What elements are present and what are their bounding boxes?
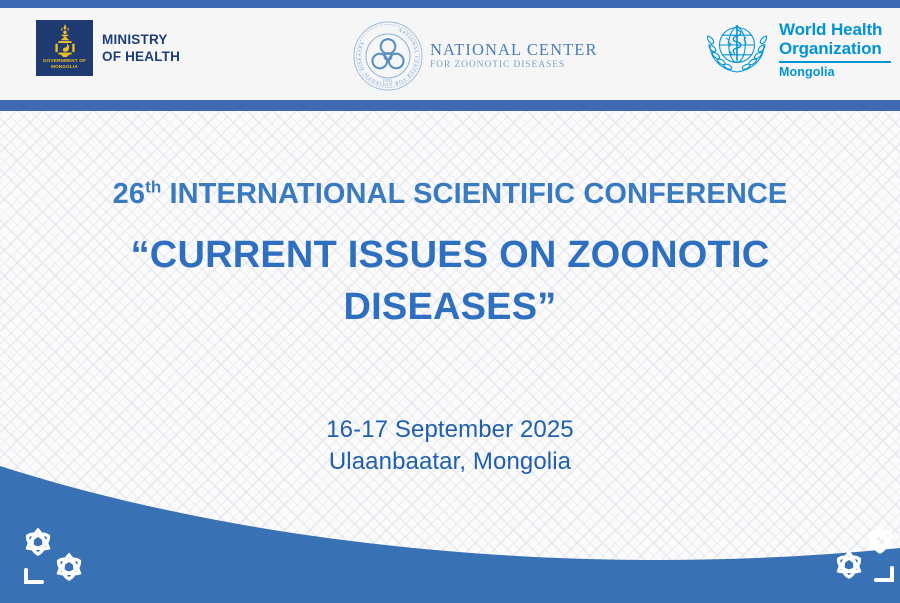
conference-heading-text: INTERNATIONAL SCIENTIFIC CONFERENCE [161,178,787,210]
ministry-label-line1: MINISTRY [102,32,168,47]
who-name-line2: Organization [779,39,882,58]
top-accent-bar [0,0,900,8]
who-mongolia-logo: World Health Organization Mongolia [702,20,891,78]
triquetra-knot-ornament-right [818,520,900,586]
ncz-line1: NATIONAL CENTER [430,42,598,59]
national-center-zoonotic-diseases-logo: NATIONAL CENTER FOR ZOONOTIC DISEASES 19… [352,20,598,92]
ncz-line2: FOR ZOONOTIC DISEASES [430,61,598,71]
crest-caption-line2: MONGOLIA [51,64,78,69]
mongolia-government-crest: GOVERNMENT OF MONGOLIA [36,20,93,76]
ministry-label-line2: OF HEALTH [102,49,180,64]
header-divider-bar [0,100,900,111]
ministry-of-health-label: MINISTRY OF HEALTH [102,31,180,65]
who-name: World Health Organization [779,20,891,58]
conference-number-heading: 26th INTERNATIONAL SCIENTIFIC CONFERENCE [0,178,900,211]
who-country-label: Mongolia [779,66,891,79]
conference-theme-line2: DISEASES” [344,286,557,328]
conference-theme-line1: “CURRENT ISSUES ON ZOONOTIC [131,234,770,276]
biohazard-seal-icon: NATIONAL CENTER FOR ZOONOTIC DISEASES 19… [352,20,424,92]
who-underline-rule [779,61,891,63]
who-name-line1: World Health [779,20,882,39]
conference-title-slide: GOVERNMENT OF MONGOLIA MINISTRY OF HEALT… [0,0,900,603]
national-center-wordmark: NATIONAL CENTER FOR ZOONOTIC DISEASES [430,42,598,71]
ministry-of-health-logo: GOVERNMENT OF MONGOLIA MINISTRY OF HEALT… [36,20,180,76]
footer-wave-shape [0,440,900,603]
footer-wave-band [0,466,900,603]
crest-caption: GOVERNMENT OF MONGOLIA [43,58,86,70]
svg-text:1951: 1951 [383,78,394,83]
who-wordmark: World Health Organization Mongolia [779,20,891,78]
conference-number: 26 [113,178,145,210]
crest-caption-line1: GOVERNMENT OF [43,58,86,63]
triquetra-knot-ornament-left [14,522,100,588]
mongolia-soyombo-emblem [51,23,79,57]
conference-ordinal-suffix: th [145,177,161,196]
who-emblem-icon [702,20,772,78]
conference-theme-title: “CURRENT ISSUES ON ZOONOTIC DISEASES” [90,229,810,333]
